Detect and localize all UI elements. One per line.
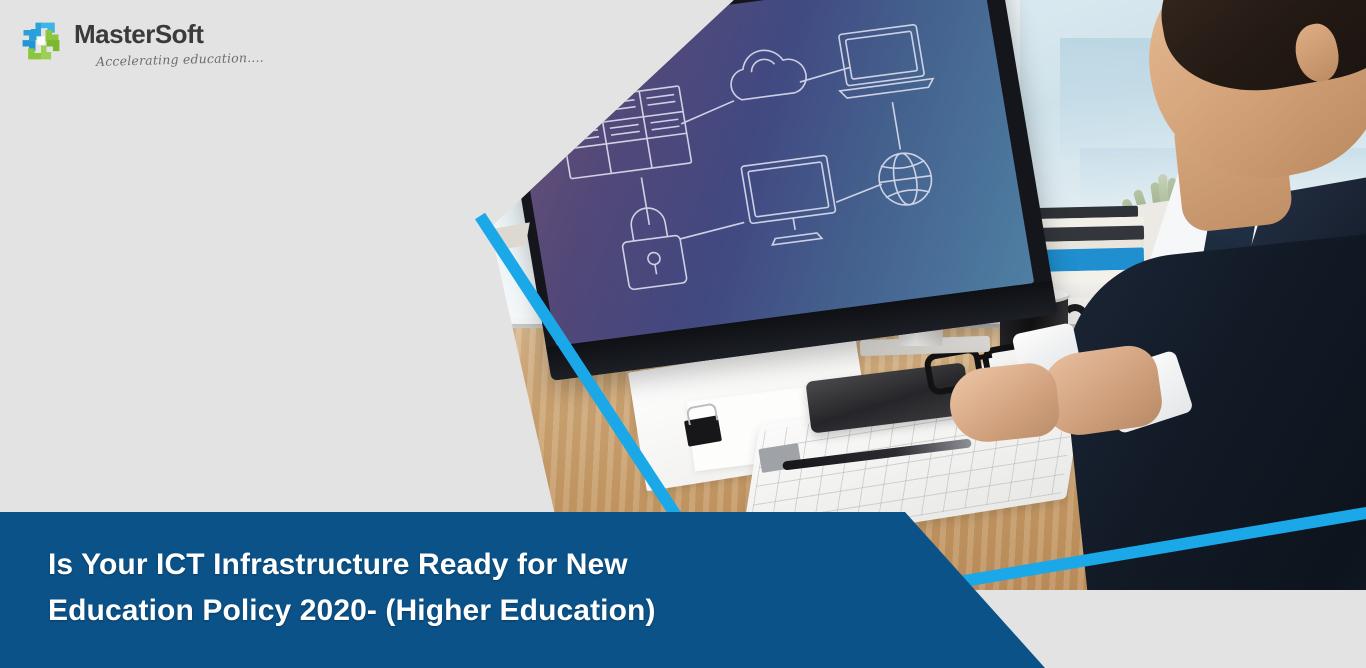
brand-wordmark: MasterSoft xyxy=(74,21,264,47)
page-title-line-1: Is Your ICT Infrastructure Ready for New xyxy=(48,542,878,588)
page-title: Is Your ICT Infrastructure Ready for New… xyxy=(48,542,878,633)
brand-wordmark-soft: Soft xyxy=(155,19,204,49)
brand-text: MasterSoft Accelerating education.... xyxy=(74,18,264,69)
brand-wordmark-master: Master xyxy=(74,19,155,49)
brand-logo[interactable]: MasterSoft Accelerating education.... xyxy=(18,18,264,69)
page-title-line-2: Education Policy 2020- (Higher Education… xyxy=(48,588,878,634)
banner-stage: MasterSoft Accelerating education.... Is… xyxy=(0,0,1366,668)
brand-tagline: Accelerating education.... xyxy=(96,50,264,69)
desktop-monitor xyxy=(492,0,1057,381)
pinwheel-logo-icon xyxy=(18,18,64,64)
